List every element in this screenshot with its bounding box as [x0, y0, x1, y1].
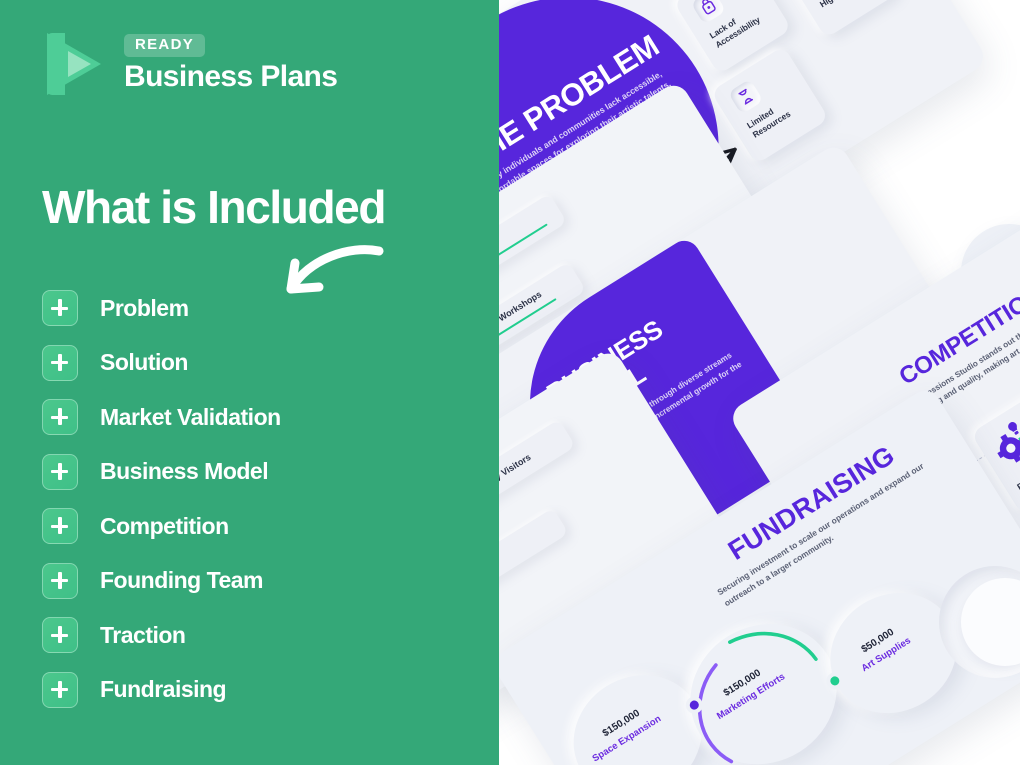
gears-idea-icon	[985, 405, 1020, 479]
brand-logo[interactable]: READY Business Plans	[47, 33, 337, 95]
traction-small-label: Held	[499, 556, 500, 575]
list-item-market-validation[interactable]: Market Validation	[42, 390, 462, 445]
traction-small-card[interactable]: Held	[499, 508, 569, 589]
problem-card-label: High Cost	[818, 0, 857, 10]
list-item-fundraising[interactable]: Fundraising	[42, 663, 462, 718]
brand-title: Business Plans	[124, 61, 337, 93]
brand-text: READY Business Plans	[124, 34, 337, 93]
lock-accessibility-icon	[690, 0, 726, 25]
included-items-list: Problem Solution Market Validation Busin…	[42, 281, 462, 717]
list-item-traction[interactable]: Traction	[42, 608, 462, 663]
list-item-label: Founding Team	[100, 567, 263, 594]
slide-deck-panel: THE PROBLEM Many individuals and communi…	[499, 0, 1020, 765]
list-item-label: Competition	[100, 513, 229, 540]
ready-badge: READY	[124, 34, 205, 57]
list-item-founding-team[interactable]: Founding Team	[42, 554, 462, 609]
hourglass-icon	[728, 79, 764, 115]
traction-stat-label: Monthly Visitors	[499, 452, 533, 497]
presentation-preview: THE PROBLEM Many individuals and communi…	[0, 0, 1020, 765]
list-item-business-model[interactable]: Business Model	[42, 445, 462, 500]
plus-icon	[42, 454, 78, 490]
plus-icon	[42, 508, 78, 544]
plus-icon	[42, 563, 78, 599]
list-item-label: Business Model	[100, 458, 268, 485]
plus-icon	[42, 672, 78, 708]
plus-icon	[42, 345, 78, 381]
list-item-solution[interactable]: Solution	[42, 336, 462, 391]
plus-icon	[42, 617, 78, 653]
list-item-label: Traction	[100, 622, 185, 649]
list-item-competition[interactable]: Competition	[42, 499, 462, 554]
list-item-label: Solution	[100, 349, 188, 376]
left-info-panel: READY Business Plans What is Included Pr…	[0, 0, 499, 765]
plus-icon	[42, 290, 78, 326]
list-item-label: Fundraising	[100, 676, 226, 703]
list-item-label: Problem	[100, 295, 189, 322]
traction-stat-card[interactable]: Monthly Visitors	[499, 419, 576, 512]
page-title: What is Included	[42, 183, 385, 231]
play-triangle-icon	[47, 33, 111, 95]
list-item-label: Market Validation	[100, 404, 281, 431]
solution-bar-progress	[499, 223, 548, 282]
list-item-problem[interactable]: Problem	[42, 281, 462, 336]
plus-icon	[42, 399, 78, 435]
problem-card-high-cost[interactable]: High Cost	[780, 0, 899, 38]
